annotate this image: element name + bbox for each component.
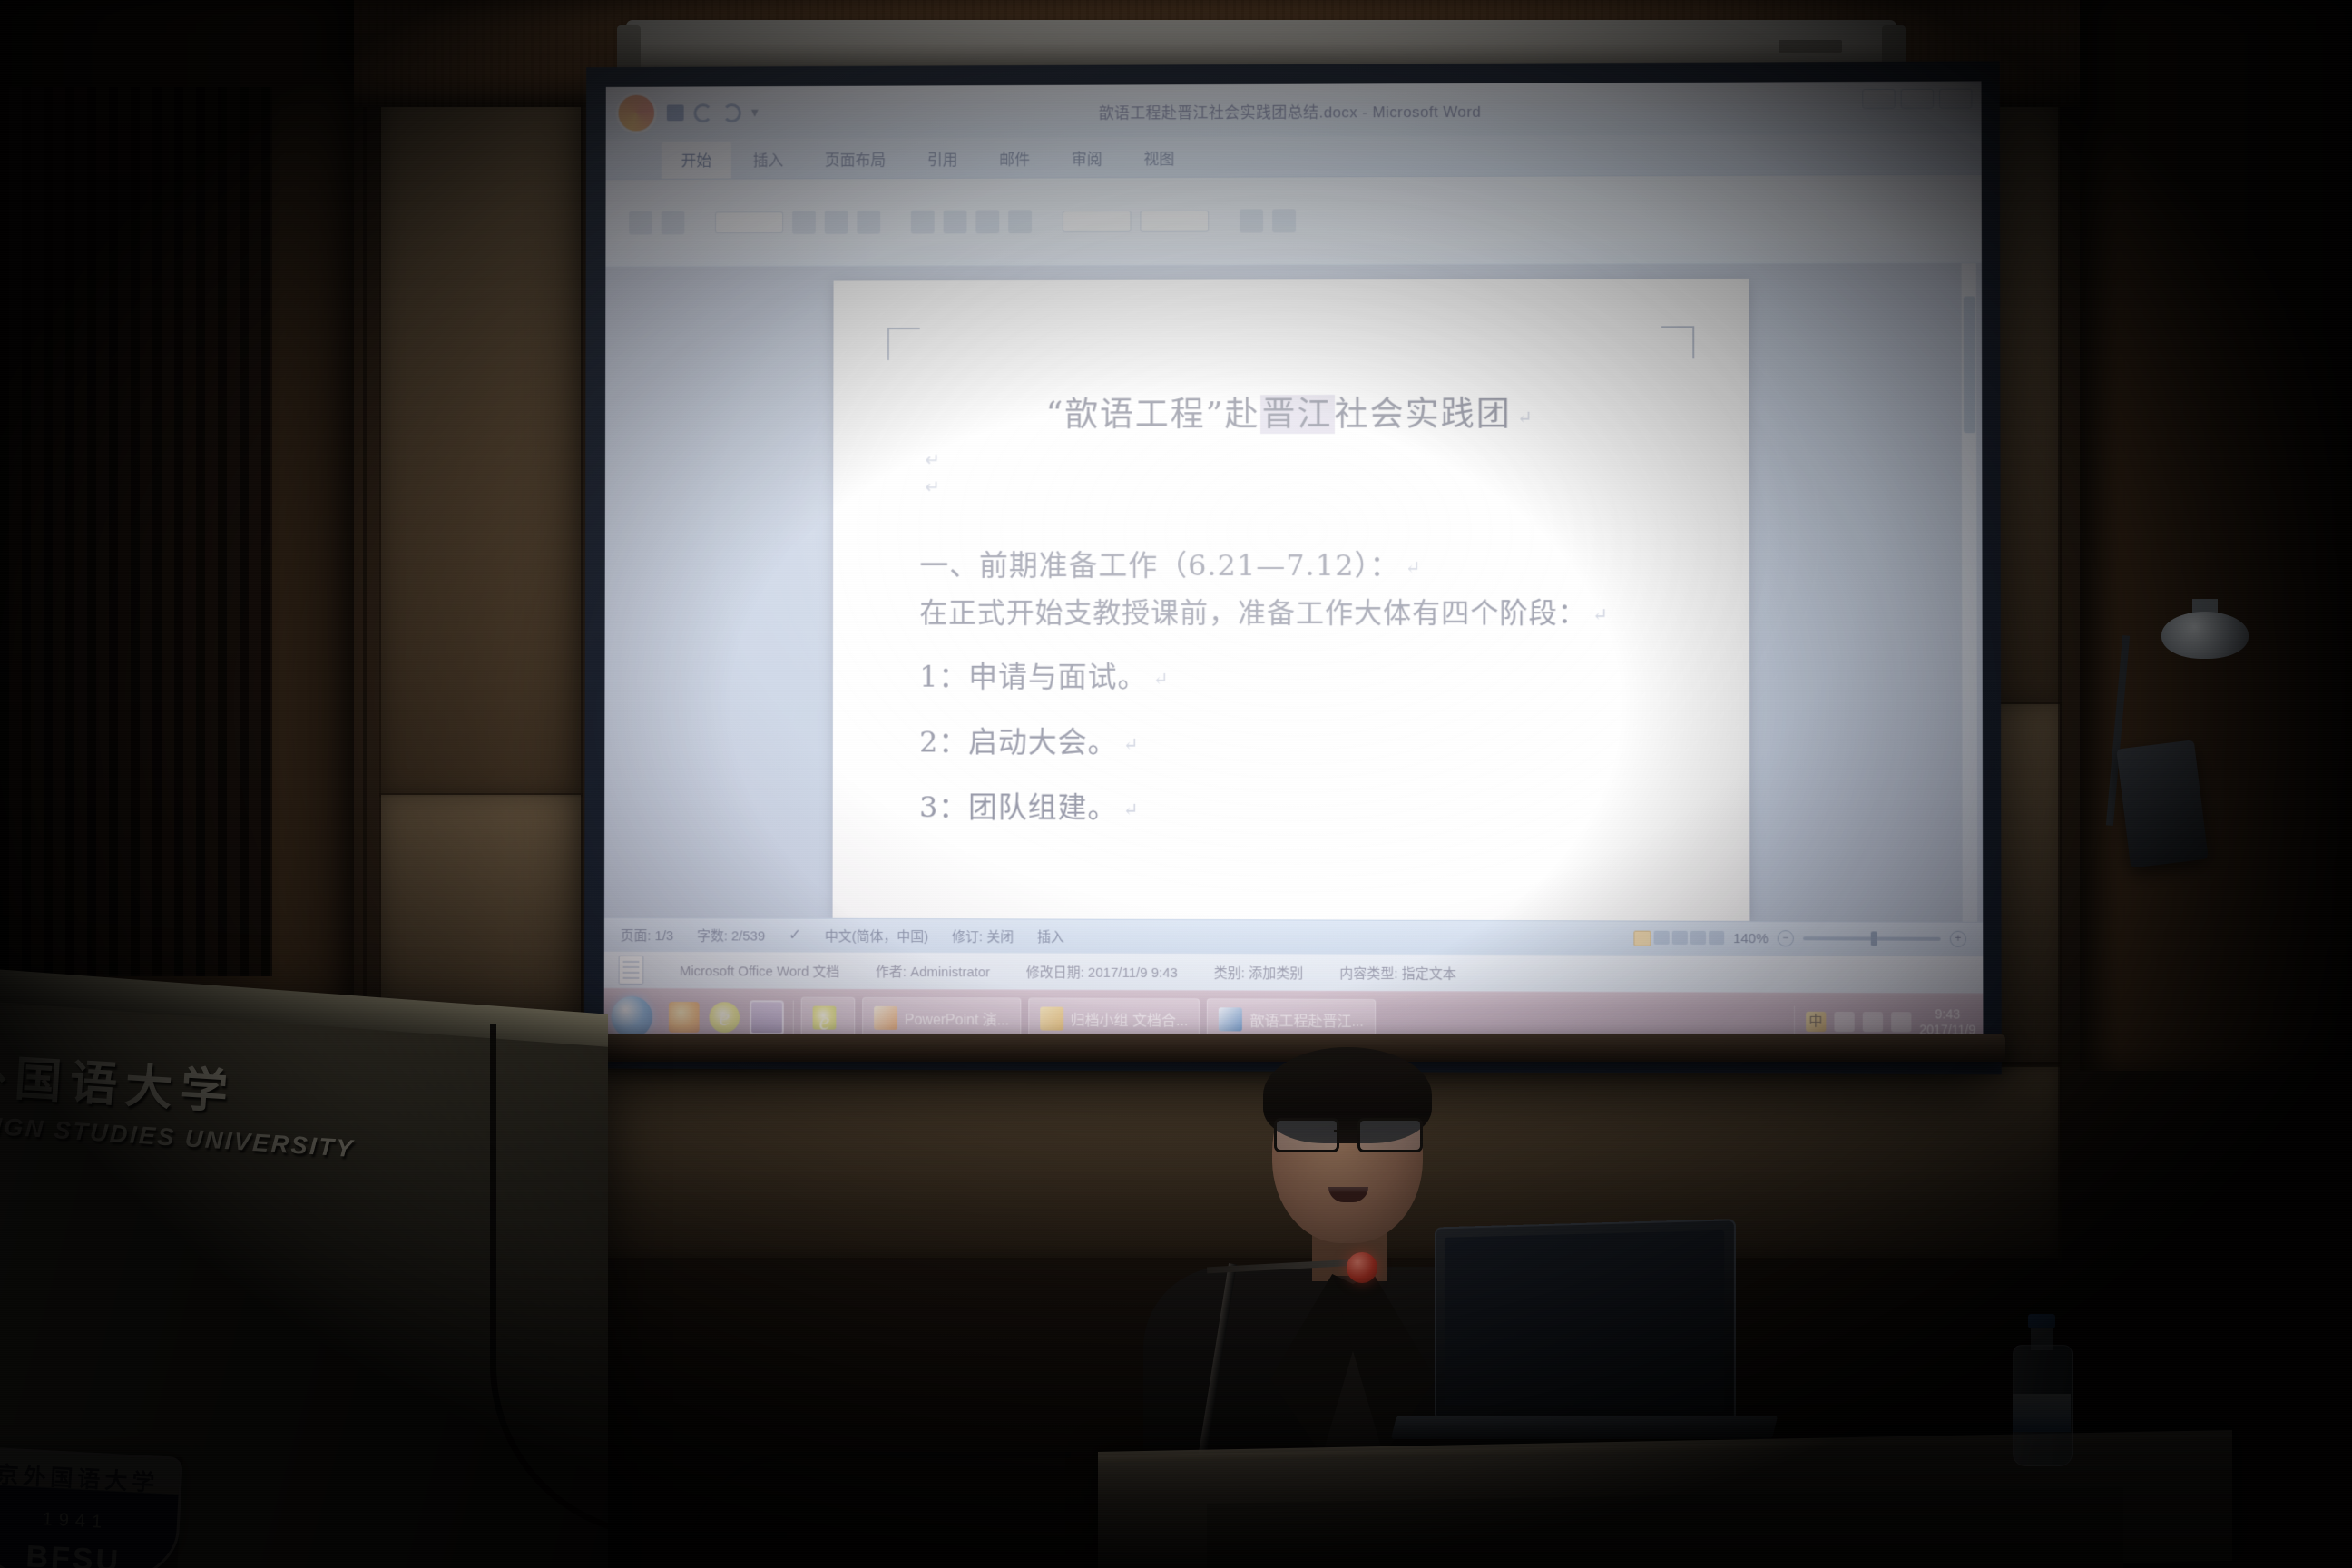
ribbon-group-editing [1240, 209, 1296, 232]
roller-brand-label [1779, 40, 1842, 53]
draft-view-icon[interactable] [1709, 930, 1724, 944]
paragraph-mark-icon: ↵ [1406, 556, 1422, 578]
ribbon-tab-strip: 开始 插入 页面布局 引用 邮件 审阅 视图 [606, 134, 1982, 180]
bottle-cap [2028, 1314, 2055, 1328]
document-page[interactable]: “歆语工程”赴晋江社会实践团↵ ↵ ↵ 一、前期准备工作（6.21—7.12）：… [833, 279, 1750, 921]
camera-dome-icon [2161, 612, 2249, 659]
window-title: 歆语工程赴晋江社会实践团总结.docx - Microsoft Word [606, 96, 1982, 124]
paragraph-text: 一、前期准备工作（6.21—7.12）： [919, 548, 1399, 583]
ribbon-group-font [715, 211, 880, 234]
document-paragraph: 2：启动大会。↵ [919, 720, 1661, 762]
security-icon[interactable] [1891, 1012, 1911, 1032]
numbering-icon[interactable] [944, 211, 967, 234]
empty-paragraph: ↵ [920, 448, 1662, 476]
tab-references[interactable]: 引用 [907, 141, 977, 178]
language-indicator[interactable]: 中文(简体，中国) [825, 926, 928, 945]
tab-review[interactable]: 审阅 [1052, 140, 1122, 177]
find-icon[interactable] [1240, 209, 1263, 232]
paragraph-mark-icon: ↵ [1153, 668, 1170, 690]
style-normal[interactable] [1063, 211, 1132, 232]
close-button[interactable] [1939, 89, 1972, 109]
word-document-icon [619, 955, 644, 985]
paragraph-text: 2：启动大会。 [919, 725, 1117, 759]
quick-access-toolbar: ▾ [667, 103, 759, 122]
spellcheck-icon[interactable]: ✓ [789, 926, 801, 945]
document-canvas[interactable]: “歆语工程”赴晋江社会实践团↵ ↵ ↵ 一、前期准备工作（6.21—7.12）：… [604, 263, 1983, 921]
taskbar-item-label: 归档小组 文档合... [1071, 1008, 1189, 1031]
zoom-level-label[interactable]: 140% [1733, 930, 1769, 946]
insert-mode-indicator[interactable]: 插入 [1037, 926, 1064, 946]
margin-mark-top-right [1661, 326, 1694, 358]
bold-icon[interactable] [792, 211, 816, 234]
file-category-label: 类别: 添加类别 [1214, 963, 1303, 982]
glasses-lens-left [1274, 1118, 1339, 1152]
paragraph-mark-icon: ↵ [1123, 799, 1140, 820]
tab-insert[interactable]: 插入 [733, 142, 803, 179]
university-crest: 京外国语大学 1941 BFSU [0, 1446, 183, 1568]
web-layout-view-icon[interactable] [1671, 930, 1687, 944]
paragraph-text: 1：申请与面试。 [919, 660, 1147, 694]
document-title: “歆语工程”赴晋江社会实践团↵ [920, 386, 1662, 436]
taskbar-item-label: PowerPoint 演... [905, 1007, 1009, 1029]
security-camera [2161, 599, 2249, 659]
align-left-icon[interactable] [975, 210, 999, 233]
folder-icon [1040, 1007, 1063, 1031]
ribbon-content [605, 175, 1982, 267]
view-mode-buttons [1633, 930, 1724, 946]
print-layout-view-icon[interactable] [1633, 930, 1651, 946]
wall-speaker [2116, 740, 2208, 867]
presenter-glasses [1270, 1118, 1426, 1149]
ime-indicator[interactable]: 中 [1806, 1012, 1826, 1032]
paste-icon[interactable] [629, 211, 652, 235]
microphone-head-icon [1347, 1252, 1377, 1283]
paragraph-mark-icon: ↵ [925, 450, 940, 470]
taskbar-item-label: 歆语工程赴晋江... [1249, 1008, 1364, 1031]
lecture-hall-photo: ▾ 歆语工程赴晋江社会实践团总结.docx - Microsoft Word 开… [0, 0, 2352, 1568]
right-wall-wood [2080, 0, 2352, 1071]
powerpoint-icon [874, 1006, 897, 1030]
redo-icon[interactable] [722, 103, 741, 122]
customize-qat-icon[interactable]: ▾ [751, 103, 759, 122]
minimize-button[interactable] [1862, 89, 1895, 109]
cut-icon[interactable] [661, 211, 685, 235]
projection-screen: ▾ 歆语工程赴晋江社会实践团总结.docx - Microsoft Word 开… [584, 61, 2002, 1074]
word-icon [1219, 1007, 1242, 1031]
ribbon-group-clipboard [629, 211, 684, 235]
italic-icon[interactable] [825, 211, 848, 234]
zoom-slider[interactable] [1803, 936, 1941, 941]
word-window: ▾ 歆语工程赴晋江社会实践团总结.docx - Microsoft Word 开… [604, 81, 1984, 1050]
roller-cap-left [617, 25, 641, 71]
document-title-part1: “歆语工程”赴 [1045, 395, 1259, 434]
volume-icon[interactable] [1834, 1012, 1854, 1032]
wall-panel [381, 87, 581, 795]
document-title-selection: 晋江 [1260, 395, 1335, 434]
full-screen-view-icon[interactable] [1653, 930, 1669, 944]
margin-mark-top-left [887, 328, 920, 360]
save-icon[interactable] [667, 104, 684, 121]
file-type-label: Microsoft Office Word 文档 [680, 961, 839, 981]
audio-cable [690, 1452, 1071, 1558]
empty-paragraph: ↵ [919, 475, 1661, 504]
paragraph-mark-icon: ↵ [1517, 407, 1534, 428]
network-icon[interactable] [1863, 1012, 1883, 1032]
paragraph-mark-icon: ↵ [925, 477, 940, 497]
audio-cable [490, 1024, 787, 1538]
paragraph-mark-icon: ↵ [1592, 603, 1609, 625]
crest-shadow [0, 1446, 183, 1568]
clock-time: 9:43 [1919, 1007, 1975, 1023]
word-count[interactable]: 字数: 2/539 [697, 926, 765, 945]
system-tray: 中 9:43 2017/11/9 [1794, 1006, 1976, 1037]
wall-seam [2058, 87, 2062, 1267]
window-controls [1862, 89, 1972, 110]
restore-button[interactable] [1901, 89, 1934, 109]
taskbar-clock[interactable]: 9:43 2017/11/9 [1919, 1007, 1975, 1038]
file-modified-label: 修改日期: 2017/11/9 9:43 [1026, 962, 1178, 982]
underline-icon[interactable] [857, 211, 880, 234]
document-paragraph: 1：申请与面试。↵ [919, 654, 1661, 697]
tab-view[interactable]: 视图 [1124, 140, 1195, 177]
laptop-lid [1435, 1219, 1736, 1429]
scrollbar-thumb[interactable] [1964, 296, 1975, 433]
word-title-bar: ▾ 歆语工程赴晋江社会实践团总结.docx - Microsoft Word [606, 81, 1982, 139]
ribbon-group-paragraph [911, 210, 1032, 233]
status-right-group: 140% − + [1633, 930, 1966, 947]
tab-page-layout[interactable]: 页面布局 [805, 141, 906, 178]
file-author-label: 作者: Administrator [876, 961, 990, 980]
tab-mailings[interactable]: 邮件 [979, 141, 1050, 178]
internet-explorer-icon [813, 1006, 837, 1030]
laptop-keyboard-base [1391, 1416, 1778, 1439]
document-paragraph: 在正式开始支教授课前，准备工作大体有四个阶段：↵ [919, 590, 1661, 631]
bullets-icon[interactable] [911, 211, 935, 234]
projected-image: ▾ 歆语工程赴晋江社会实践团总结.docx - Microsoft Word 开… [604, 81, 1984, 1050]
taskbar-item-powerpoint[interactable]: PowerPoint 演... [862, 997, 1021, 1040]
water-bottle [2013, 1314, 2071, 1465]
document-paragraph: 一、前期准备工作（6.21—7.12）：↵ [919, 543, 1661, 584]
track-changes-indicator[interactable]: 修订: 关闭 [952, 926, 1014, 946]
bottle-label [2013, 1394, 2071, 1432]
glasses-lens-right [1357, 1118, 1423, 1152]
undo-icon[interactable] [693, 103, 712, 122]
font-name-box[interactable] [715, 211, 783, 233]
document-title-part2: 社会实践团 [1335, 395, 1512, 434]
zoom-out-button[interactable]: − [1778, 930, 1794, 946]
document-paragraph: 3：团队组建。↵ [919, 784, 1661, 828]
stage-curtain [0, 87, 272, 976]
style-heading1[interactable] [1140, 211, 1209, 232]
paragraph-text: 3：团队组建。 [919, 789, 1117, 824]
outline-view-icon[interactable] [1690, 930, 1706, 944]
laptop [1435, 1219, 1736, 1429]
ribbon-group-styles [1063, 211, 1209, 232]
align-center-icon[interactable] [1008, 210, 1032, 233]
file-properties-bar: Microsoft Office Word 文档 作者: Administrat… [604, 951, 1984, 994]
word-status-bar: 页面: 1/3 字数: 2/539 ✓ 中文(简体，中国) 修订: 关闭 插入 [604, 917, 1983, 955]
paragraph-text: 在正式开始支教授课前，准备工作大体有四个阶段： [919, 597, 1587, 630]
office-button-icon[interactable] [618, 95, 654, 132]
laptop-screen [1445, 1230, 1724, 1412]
tab-home[interactable]: 开始 [661, 142, 731, 179]
file-content-type-label: 内容类型: 指定文本 [1339, 963, 1456, 983]
taskbar-item-ie[interactable] [801, 997, 856, 1039]
zoom-in-button[interactable]: + [1950, 931, 1966, 947]
page-indicator[interactable]: 页面: 1/3 [621, 926, 674, 945]
replace-icon[interactable] [1272, 209, 1296, 232]
paragraph-mark-icon: ↵ [1123, 733, 1140, 755]
